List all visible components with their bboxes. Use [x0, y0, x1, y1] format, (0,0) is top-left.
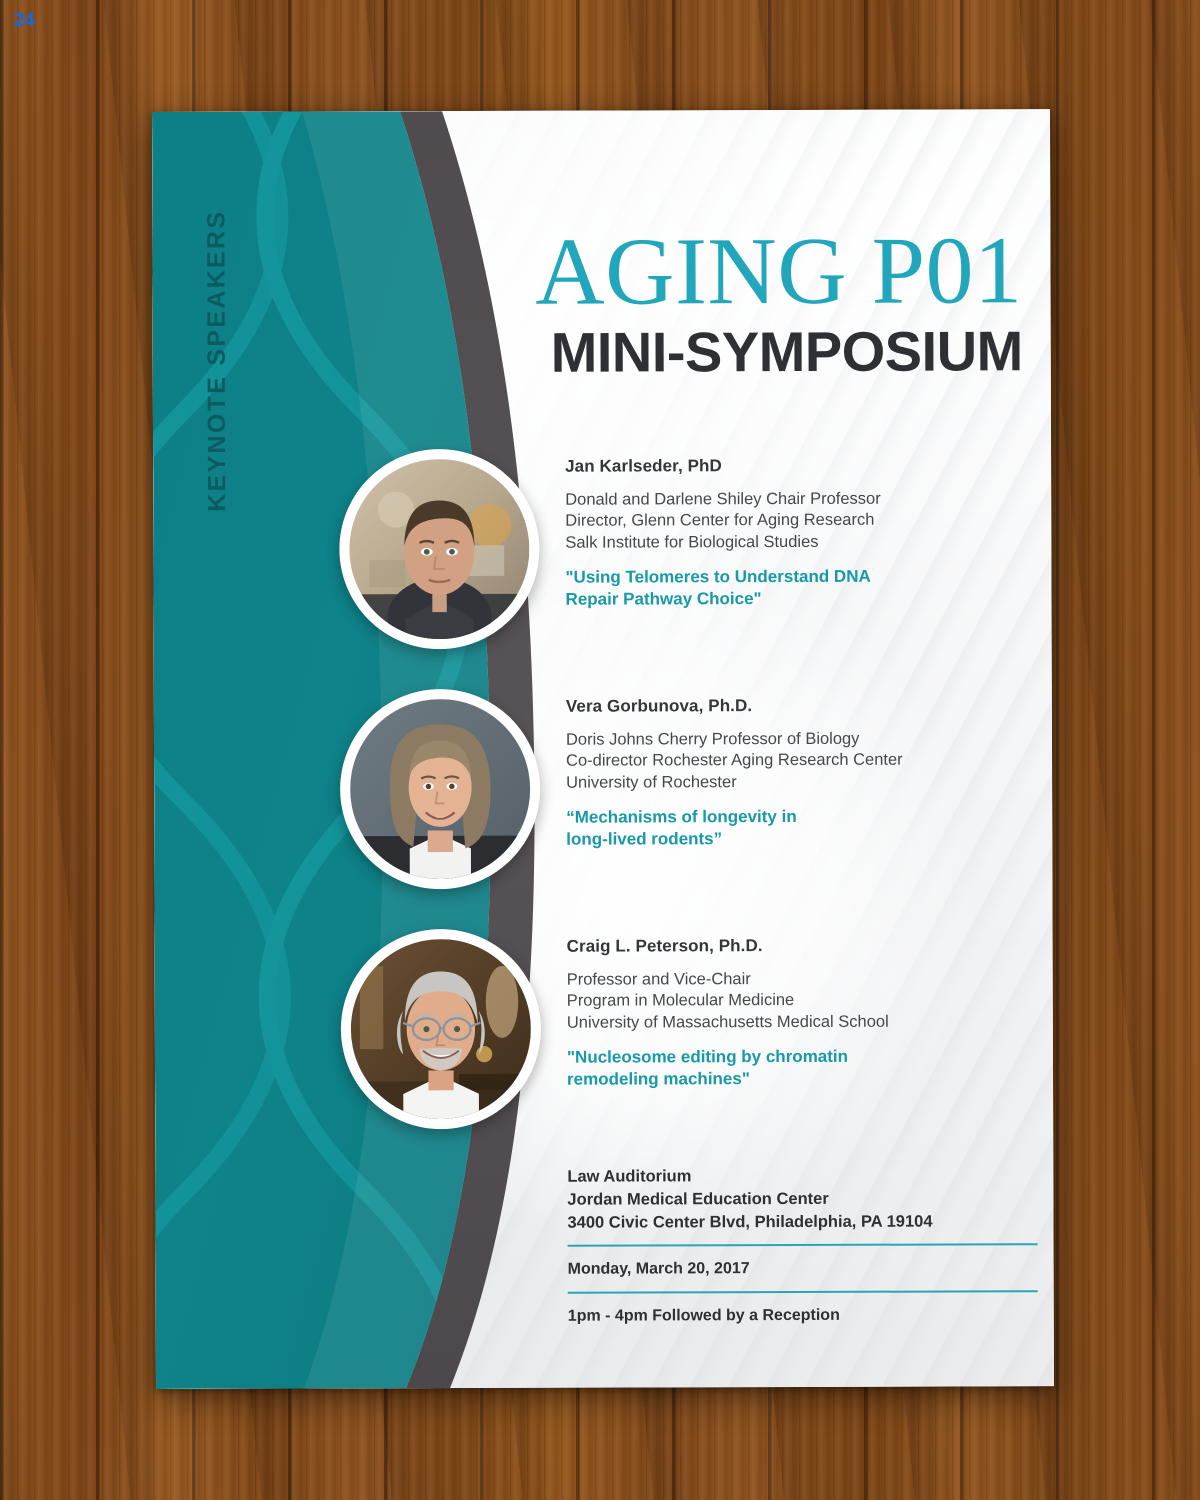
speaker-photo-vera-gorbunova: [350, 699, 531, 880]
speaker-photo-frame: [339, 449, 540, 650]
poster-title-block: AGING P01 MINI-SYMPOSIUM: [402, 224, 1022, 381]
speaker-affiliation: Donald and Darlene Shiley Chair Professo…: [565, 488, 1025, 554]
speaker-talk-title: "Using Telomeres to Understand DNA Repai…: [565, 566, 1025, 611]
page-title: AGING P01: [402, 224, 1022, 318]
speaker-talk-title: "Nucleosome editing by chromatin remodel…: [567, 1046, 1027, 1091]
page-subtitle: MINI-SYMPOSIUM: [403, 322, 1023, 381]
corner-index-badge: 24: [14, 10, 34, 32]
speaker-photo-jan-karlseder: [349, 459, 530, 640]
wood-desk-background: 24: [0, 0, 1200, 1500]
speaker-talk-title: “Mechanisms of longevity in long-lived r…: [566, 806, 1026, 851]
speaker-affiliation: Doris Johns Cherry Professor of Biology …: [566, 728, 1026, 794]
event-date: Monday, March 20, 2017: [568, 1246, 1038, 1292]
speaker-entry: Vera Gorbunova, Ph.D. Doris Johns Cherry…: [154, 687, 1053, 910]
venue-address: Law Auditorium Jordan Medical Education …: [567, 1164, 1037, 1245]
speaker-photo-frame: [341, 929, 542, 1130]
event-time: 1pm - 4pm Followed by a Reception: [568, 1293, 1038, 1326]
event-details-footer: Law Auditorium Jordan Medical Education …: [567, 1164, 1038, 1326]
speaker-entry: Jan Karlseder, PhD Donald and Darlene Sh…: [153, 447, 1052, 670]
speaker-entry: Craig L. Peterson, Ph.D. Professor and V…: [155, 927, 1054, 1150]
symposium-poster: KEYNOTE SPEAKERS AGING P01 MINI-SYMPOSIU…: [152, 109, 1054, 1389]
speaker-text-block: Craig L. Peterson, Ph.D. Professor and V…: [567, 935, 1027, 1090]
speaker-photo-craig-peterson: [351, 939, 532, 1120]
speaker-name: Vera Gorbunova, Ph.D.: [566, 695, 1026, 716]
speaker-affiliation: Professor and Vice-Chair Program in Mole…: [567, 968, 1027, 1034]
speaker-photo-frame: [340, 689, 541, 890]
speaker-text-block: Jan Karlseder, PhD Donald and Darlene Sh…: [565, 455, 1025, 610]
speaker-name: Craig L. Peterson, Ph.D.: [567, 935, 1027, 956]
speaker-text-block: Vera Gorbunova, Ph.D. Doris Johns Cherry…: [566, 695, 1026, 850]
speaker-name: Jan Karlseder, PhD: [565, 455, 1025, 476]
